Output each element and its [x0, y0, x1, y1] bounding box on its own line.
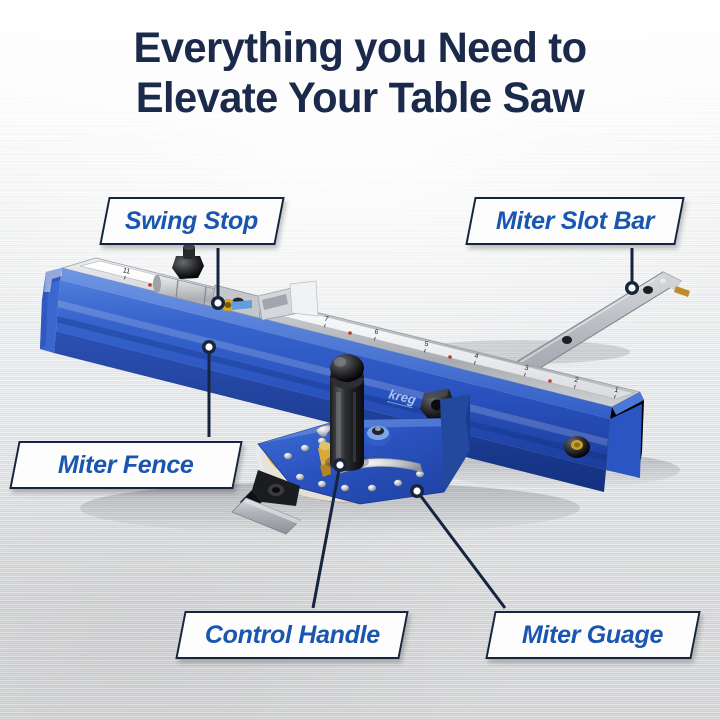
leader-miter-slot-bar: [625, 248, 639, 295]
callout-label-swing-stop-text: Swing Stop: [125, 207, 258, 236]
slot-bar-screw: [562, 336, 572, 344]
callout-label-miter-guage[interactable]: Miter Guage: [485, 611, 700, 659]
callout-label-swing-stop[interactable]: Swing Stop: [99, 197, 284, 245]
callout-label-control-handle[interactable]: Control Handle: [175, 611, 408, 659]
callout-label-miter-fence[interactable]: Miter Fence: [9, 441, 242, 489]
slot-bar-screw: [643, 286, 653, 294]
swing-stop-knob: [172, 244, 204, 279]
fence-end-knob: [564, 436, 590, 458]
infographic-canvas: Everything you Need to Elevate Your Tabl…: [0, 0, 720, 720]
callout-label-control-handle-text: Control Handle: [205, 621, 380, 650]
leader-swing-stop: [211, 248, 225, 310]
callout-label-miter-slot-bar[interactable]: Miter Slot Bar: [465, 197, 684, 245]
control-handle: [325, 354, 369, 471]
callout-label-miter-fence-text: Miter Fence: [58, 451, 194, 480]
callout-label-miter-slot-bar-text: Miter Slot Bar: [496, 207, 654, 236]
callout-label-miter-guage-text: Miter Guage: [522, 621, 663, 650]
